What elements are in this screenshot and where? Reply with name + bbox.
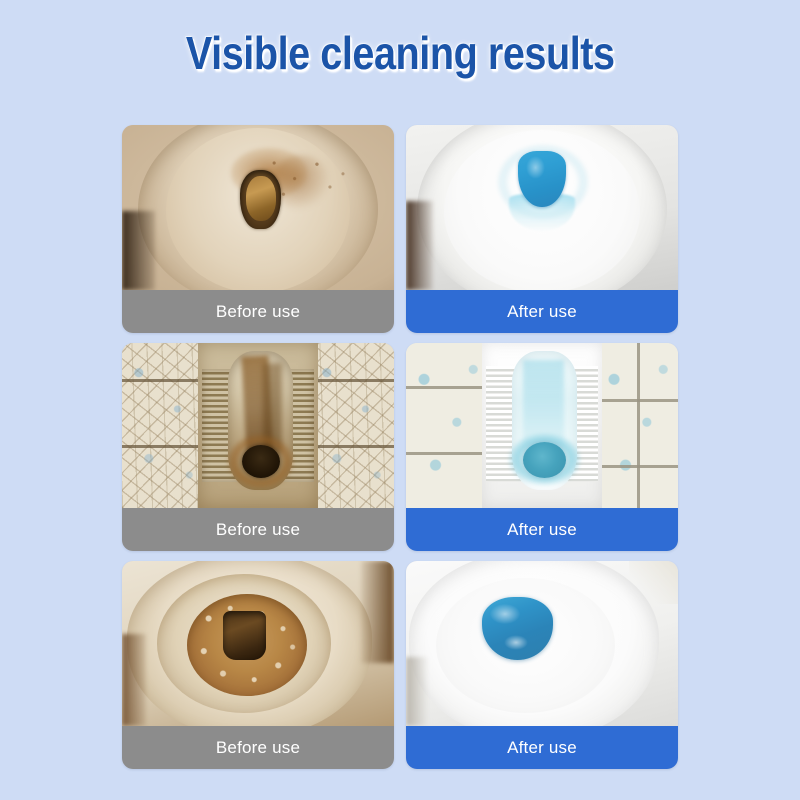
after-card-3[interactable]: After use bbox=[406, 561, 678, 769]
before-photo-3 bbox=[122, 561, 394, 726]
after-label-text-3: After use bbox=[507, 738, 577, 758]
after-label-bar-1: After use bbox=[406, 290, 678, 333]
after-photo-2 bbox=[406, 343, 678, 508]
after-label-bar-3: After use bbox=[406, 726, 678, 769]
before-label-text-1: Before use bbox=[216, 302, 300, 322]
clean-toilet-bowl-blue-water-image bbox=[406, 561, 678, 726]
comparison-row-2: Before use bbox=[122, 343, 678, 551]
after-label-text-1: After use bbox=[507, 302, 577, 322]
after-photo-1 bbox=[406, 125, 678, 290]
dirty-squat-toilet-image bbox=[122, 343, 394, 508]
before-label-text-3: Before use bbox=[216, 738, 300, 758]
after-photo-3 bbox=[406, 561, 678, 726]
before-photo-2 bbox=[122, 343, 394, 508]
limescale-toilet-bowl-image bbox=[122, 561, 394, 726]
clean-squat-toilet-image bbox=[406, 343, 678, 508]
before-photo-1 bbox=[122, 125, 394, 290]
page-title-container: Visible cleaning results bbox=[0, 30, 800, 76]
dirty-toilet-bowl-image bbox=[122, 125, 394, 290]
before-label-text-2: Before use bbox=[216, 520, 300, 540]
after-card-1[interactable]: After use bbox=[406, 125, 678, 333]
before-label-bar-2: Before use bbox=[122, 508, 394, 551]
after-label-text-2: After use bbox=[507, 520, 577, 540]
after-card-2[interactable]: After use bbox=[406, 343, 678, 551]
clean-toilet-bowl-image bbox=[406, 125, 678, 290]
before-label-bar-1: Before use bbox=[122, 290, 394, 333]
comparison-grid: Before use After use bbox=[122, 125, 678, 769]
before-card-3[interactable]: Before use bbox=[122, 561, 394, 769]
before-card-2[interactable]: Before use bbox=[122, 343, 394, 551]
page-title: Visible cleaning results bbox=[186, 30, 615, 76]
before-label-bar-3: Before use bbox=[122, 726, 394, 769]
comparison-row-3: Before use After use bbox=[122, 561, 678, 769]
after-label-bar-2: After use bbox=[406, 508, 678, 551]
comparison-row-1: Before use After use bbox=[122, 125, 678, 333]
before-card-1[interactable]: Before use bbox=[122, 125, 394, 333]
